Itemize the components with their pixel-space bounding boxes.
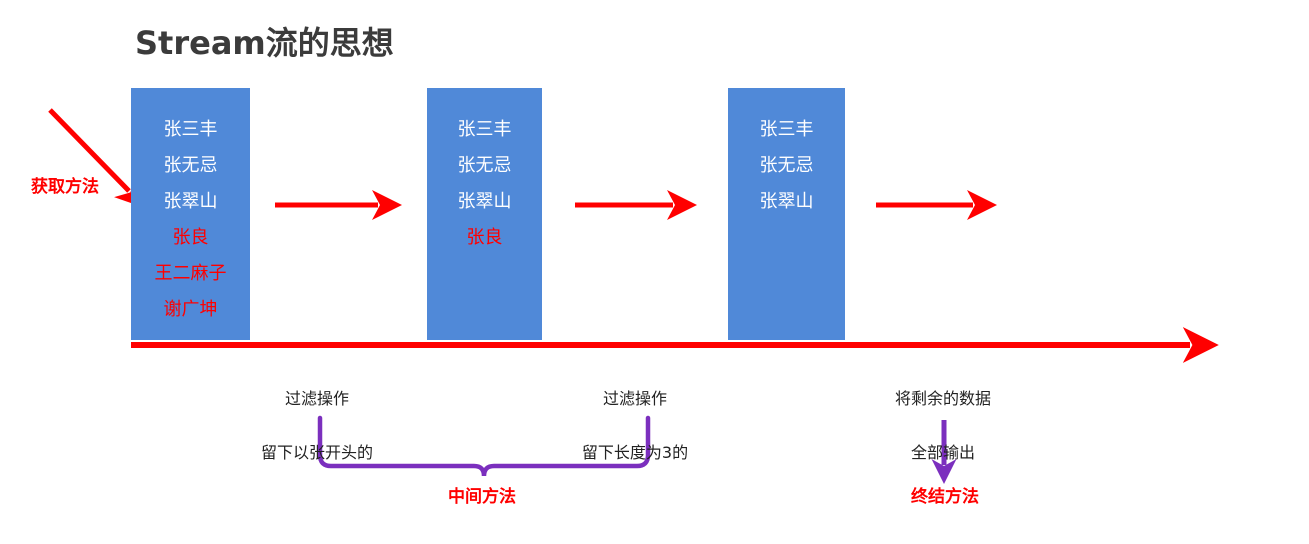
stage-2-name-dropped: 张良 [467, 220, 503, 256]
label-acquire-method: 获取方法 [10, 172, 120, 197]
page-title: Stream流的思想 [135, 18, 394, 64]
stage-1-name: 张无忌 [164, 148, 218, 184]
stage-1-name-dropped: 谢广坤 [164, 292, 218, 328]
stage-1-name: 张三丰 [164, 112, 218, 148]
stage-2-name: 张翠山 [458, 184, 512, 220]
caption-line: 过滤操作 [545, 385, 725, 412]
stage-2-name: 张三丰 [458, 112, 512, 148]
stage-2-name: 张无忌 [458, 148, 512, 184]
caption-stage-3: 将剩余的数据 全部输出 [848, 358, 1038, 493]
caption-stage-2: 过滤操作 留下长度为3的 [545, 358, 725, 493]
stage-1-name-dropped: 王二麻子 [155, 256, 227, 292]
caption-stage-1: 过滤操作 留下以张开头的 [222, 358, 412, 493]
caption-line: 过滤操作 [222, 385, 412, 412]
label-terminal-method: 终结方法 [880, 482, 1010, 507]
caption-line: 留下以张开头的 [222, 439, 412, 466]
label-intermediate-method: 中间方法 [392, 482, 572, 507]
stream-concept-diagram: Stream流的思想 [0, 0, 1309, 544]
stage-3-name: 张无忌 [760, 148, 814, 184]
caption-line: 将剩余的数据 [848, 385, 1038, 412]
caption-line: 全部输出 [848, 439, 1038, 466]
stage-3-name: 张三丰 [760, 112, 814, 148]
stage-3-name: 张翠山 [760, 184, 814, 220]
stage-box-3: 张三丰 张无忌 张翠山 [728, 88, 845, 340]
stage-box-1: 张三丰 张无忌 张翠山 张良 王二麻子 谢广坤 [131, 88, 250, 340]
stage-1-name-dropped: 张良 [173, 220, 209, 256]
stage-1-name: 张翠山 [164, 184, 218, 220]
caption-line: 留下长度为3的 [545, 439, 725, 466]
stage-box-2: 张三丰 张无忌 张翠山 张良 [427, 88, 542, 340]
